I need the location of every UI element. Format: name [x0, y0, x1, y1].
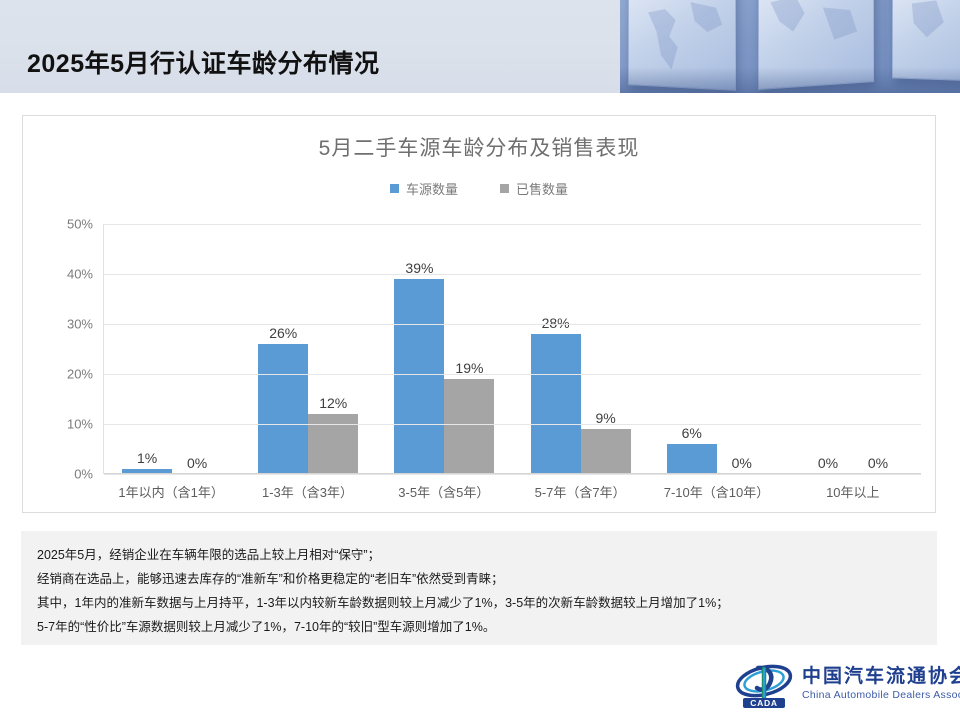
bar-value-label: 0%	[732, 455, 752, 471]
gridline	[104, 474, 921, 475]
notes-box: 2025年5月，经销企业在车辆年限的选品上较上月相对“保守”； 经销商在选品上，…	[21, 531, 937, 645]
y-axis-tick-label: 30%	[67, 317, 93, 332]
bar[interactable]	[444, 379, 494, 474]
bar-value-label: 12%	[319, 395, 347, 411]
x-axis-tick-label: 10年以上	[785, 480, 921, 512]
page-title: 2025年5月行认证车龄分布情况	[27, 44, 380, 80]
bar-group: 39%19%	[376, 224, 512, 474]
note-line: 2025年5月，经销企业在车辆年限的选品上较上月相对“保守”；	[37, 543, 921, 567]
logo-text: 中国汽车流通协会 China Automobile Dealers Associ…	[802, 666, 960, 702]
svg-text:CADA: CADA	[750, 698, 778, 708]
gridline	[104, 424, 921, 425]
bar-value-label: 1%	[137, 450, 157, 466]
bar-slot: 1%	[122, 224, 172, 474]
plot-area: 1%0%26%12%39%19%28%9%6%0%0%0%	[103, 224, 921, 474]
bar[interactable]	[581, 429, 631, 474]
legend-label-series-1: 车源数量	[406, 179, 458, 198]
gridline	[104, 274, 921, 275]
bar-group: 1%0%	[104, 224, 240, 474]
chart-plot: 50%40%30%20%10%0% 1%0%26%12%39%19%28%9%6…	[59, 224, 921, 474]
chart-title: 5月二手车源车龄分布及销售表现	[23, 132, 935, 162]
bar-slot: 0%	[853, 224, 903, 474]
bar[interactable]	[308, 414, 358, 474]
chart-legend: 车源数量 已售数量	[23, 179, 935, 198]
legend-item-series-1[interactable]: 车源数量	[390, 179, 458, 198]
x-axis: 1年以内（含1年）1-3年（含3年）3-5年（含5年）5-7年（含7年）7-10…	[103, 480, 921, 512]
x-axis-tick-label: 7-10年（含10年）	[648, 480, 784, 512]
y-axis-tick-label: 0%	[74, 467, 93, 482]
bar-value-label: 0%	[187, 455, 207, 471]
bar[interactable]	[667, 444, 717, 474]
bar-slot: 0%	[172, 224, 222, 474]
bar-value-label: 0%	[818, 455, 838, 471]
bar-group: 28%9%	[513, 224, 649, 474]
bar-slot: 19%	[444, 224, 494, 474]
x-axis-tick-label: 3-5年（含5年）	[376, 480, 512, 512]
gridline	[104, 224, 921, 225]
chart-panel: 5月二手车源车龄分布及销售表现 车源数量 已售数量 50%40%30%20%10…	[22, 115, 936, 513]
legend-item-series-2[interactable]: 已售数量	[500, 179, 568, 198]
bar-slot: 0%	[717, 224, 767, 474]
gridline	[104, 324, 921, 325]
x-axis-tick-label: 5-7年（含7年）	[512, 480, 648, 512]
note-line: 经销商在选品上，能够迅速去库存的“准新车”和价格更稳定的“老旧车”依然受到青睐；	[37, 567, 921, 591]
cada-emblem-icon: CADA	[735, 659, 793, 709]
bar-group: 6%0%	[649, 224, 785, 474]
y-axis-tick-label: 20%	[67, 367, 93, 382]
legend-label-series-2: 已售数量	[516, 179, 568, 198]
bar-slot: 6%	[667, 224, 717, 474]
bar[interactable]	[258, 344, 308, 474]
bar-group: 0%0%	[785, 224, 921, 474]
bar[interactable]	[394, 279, 444, 474]
bar-groups: 1%0%26%12%39%19%28%9%6%0%0%0%	[104, 224, 921, 474]
header-art-shadow	[620, 67, 960, 93]
note-line: 5-7年的“性价比”车源数据则较上月减少了1%，7-10年的“较旧”型车源则增加…	[37, 615, 921, 639]
y-axis-tick-label: 50%	[67, 217, 93, 232]
header-decoration-cubes-icon	[620, 0, 960, 93]
y-axis-tick-label: 40%	[67, 267, 93, 282]
bar-slot: 12%	[308, 224, 358, 474]
legend-swatch-icon	[390, 184, 399, 193]
gridline	[104, 374, 921, 375]
bar-group: 26%12%	[240, 224, 376, 474]
org-name-en: China Automobile Dealers Association	[802, 688, 960, 702]
bar-slot: 39%	[394, 224, 444, 474]
slide-header-band: 2025年5月行认证车龄分布情况	[0, 0, 960, 93]
bar-slot: 0%	[803, 224, 853, 474]
footer-logo: CADA 中国汽车流通协会 China Automobile Dealers A…	[735, 657, 947, 711]
legend-swatch-icon	[500, 184, 509, 193]
x-axis-tick-label: 1年以内（含1年）	[103, 480, 239, 512]
bar-value-label: 0%	[868, 455, 888, 471]
bar-slot: 26%	[258, 224, 308, 474]
bar-slot: 28%	[531, 224, 581, 474]
x-axis-tick-label: 1-3年（含3年）	[239, 480, 375, 512]
slide-root: 2025年5月行认证车龄分布情况 5月二手车源车龄分布及销售表现 车源数量 已售…	[0, 0, 960, 720]
bar[interactable]	[531, 334, 581, 474]
note-line: 其中，1年内的准新车数据与上月持平，1-3年以内较新车龄数据则较上月减少了1%，…	[37, 591, 921, 615]
bar-value-label: 26%	[269, 325, 297, 341]
y-axis-tick-label: 10%	[67, 417, 93, 432]
bar-value-label: 28%	[542, 315, 570, 331]
org-name-cn: 中国汽车流通协会	[802, 666, 960, 688]
bar-value-label: 6%	[682, 425, 702, 441]
y-axis: 50%40%30%20%10%0%	[59, 224, 99, 474]
bar-slot: 9%	[581, 224, 631, 474]
